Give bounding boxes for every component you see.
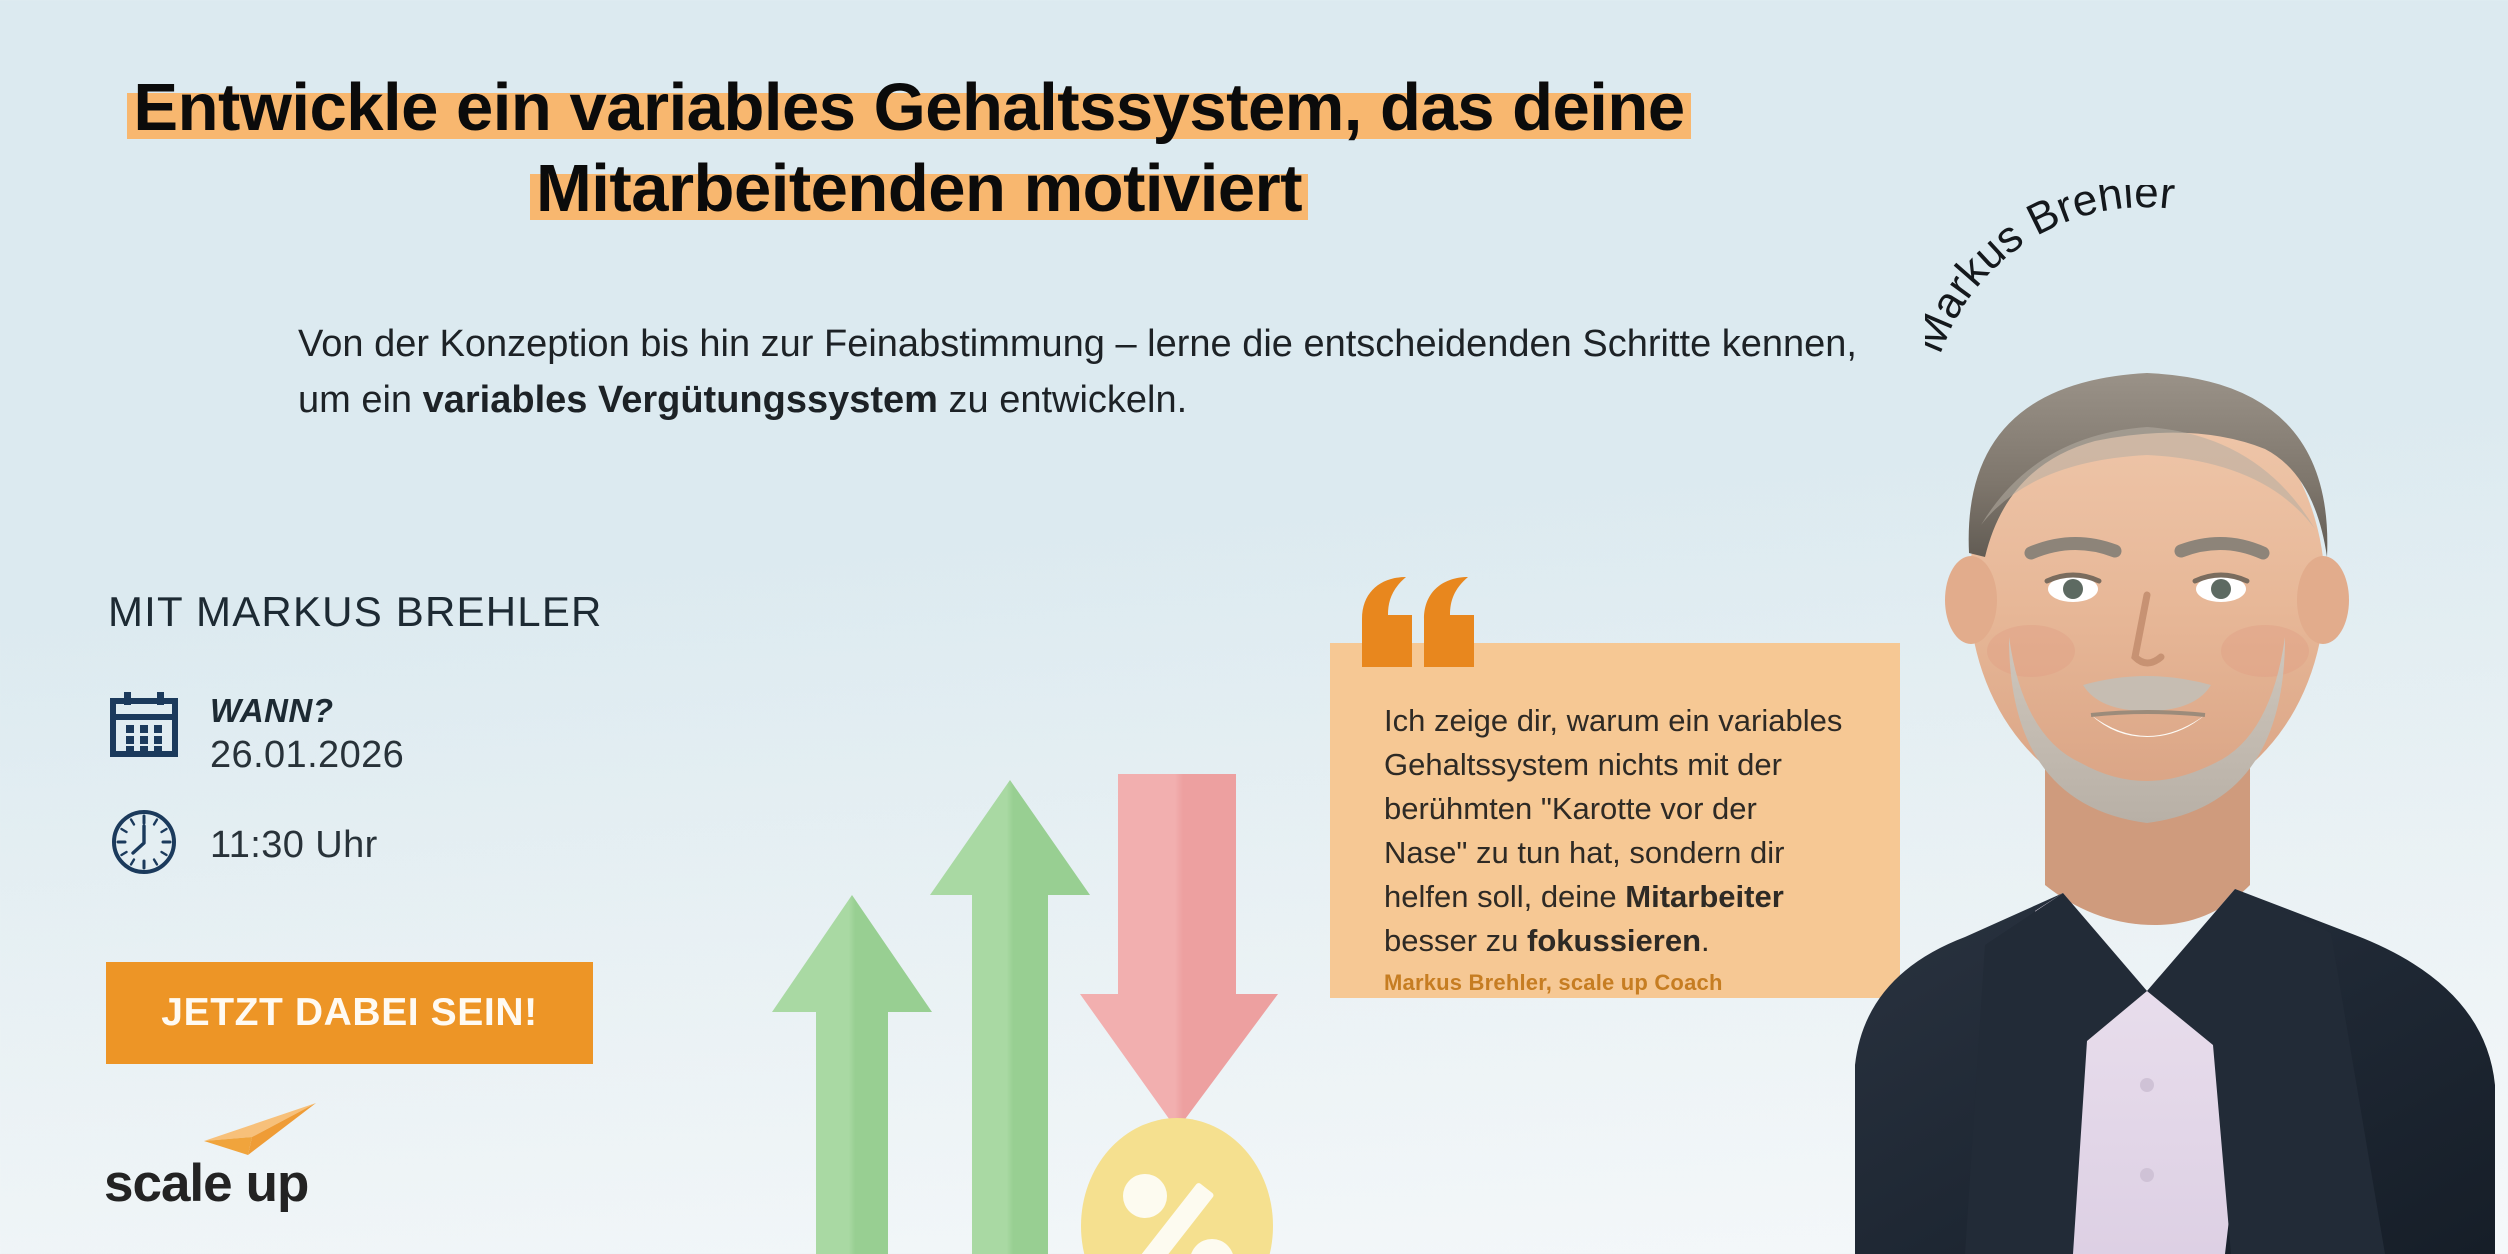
logo-word-scale: scale [104,1154,232,1213]
curved-presenter-name: Markus Brehler [1925,185,2375,385]
growth-arrows-graphic [740,740,1360,1254]
arrow-down-icon [1080,774,1278,1130]
headline-line-1-text: Entwickle ein variables Gehaltssystem, d… [133,70,1684,145]
quote-line-4: Nase" zu tun hat, sondern dir [1384,835,1784,870]
quote-line-2: Gehaltssystem nichts mit der [1384,747,1782,782]
paper-plane-icon [200,1097,320,1159]
headline-line-2: Mitarbeitenden motiviert [530,155,1308,222]
event-time-row: 11:30 Uhr [108,806,378,878]
quote-line-1: Ich zeige dir, warum ein variables [1384,703,1842,738]
headline-line-1: Entwickle ein variables Gehaltssystem, d… [127,74,1690,141]
quote-text: Ich zeige dir, warum ein variables Gehal… [1384,699,1884,963]
quote-line-3: berühmten "Karotte vor der [1384,791,1757,826]
page-subtitle: Von der Konzeption bis hin zur Feinabsti… [298,316,1858,428]
quote-attribution: Markus Brehler, scale up Coach [1384,970,1723,996]
event-time-text: 11:30 Uhr [210,806,378,867]
scale-up-logo[interactable]: scaleup [104,1115,334,1235]
event-date-label: WANN? [210,692,404,730]
event-date-row: WANN? 26.01.2026 [108,690,404,777]
presenter-label: MIT MARKUS BREHLER [108,588,603,636]
quote-line-6: besser zu [1384,923,1527,958]
quote-period: . [1701,923,1710,958]
event-time-value: 11:30 Uhr [210,808,378,867]
arrow-up-icon [930,780,1090,1254]
cta-button[interactable]: JETZT DABEI SEIN! [106,962,593,1064]
clock-icon [108,806,180,878]
scale-up-logo-text: scaleup [104,1153,308,1214]
presenter-portrait [1795,285,2508,1254]
subtitle-bold: variables Vergütungssystem [423,379,938,421]
logo-word-up: up [246,1154,309,1213]
percent-icon [1081,1118,1273,1254]
event-date-value: 26.01.2026 [210,734,404,777]
arrow-up-icon [772,895,932,1254]
headline-line-2-text: Mitarbeitenden motiviert [536,151,1302,226]
svg-text:Markus Brehler: Markus Brehler [1925,185,2177,359]
cta-button-label: JETZT DABEI SEIN! [161,991,537,1035]
subtitle-part-2: zu entwickeln. [938,379,1187,421]
quote-bold-fokussieren: fokussieren [1527,923,1701,958]
quote-bold-mitarbeiter: Mitarbeiter [1625,879,1783,914]
page-headline: Entwickle ein variables Gehaltssystem, d… [0,74,1900,236]
calendar-icon [108,690,180,762]
quote-line-5: helfen soll, deine [1384,879,1625,914]
quote-open-icon [1354,575,1484,667]
event-date-text: WANN? 26.01.2026 [210,690,404,777]
